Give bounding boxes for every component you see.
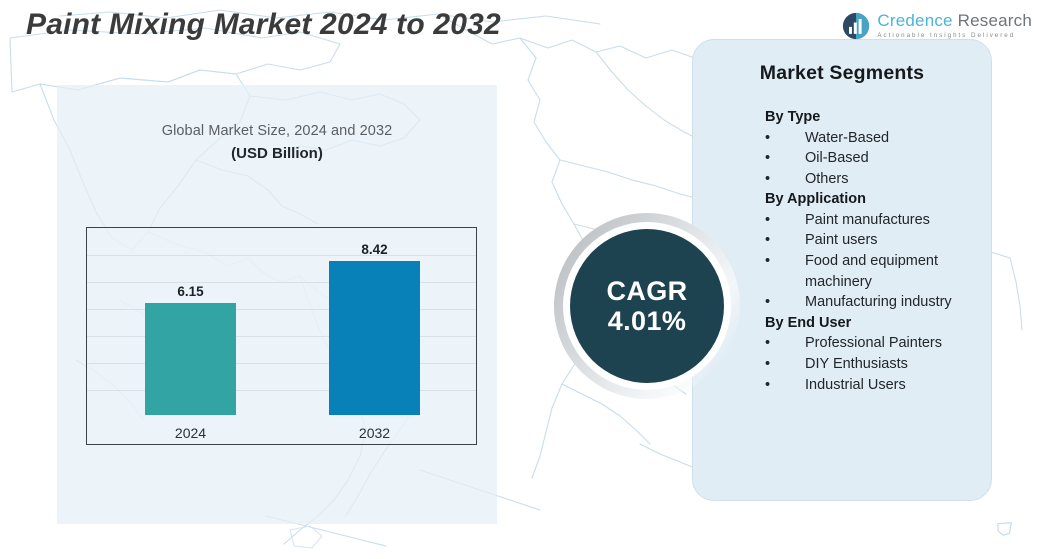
segment-item: •Water-Based (749, 128, 975, 149)
bullet-icon: • (765, 354, 805, 375)
chart-subtitle: (USD Billion) (57, 145, 497, 162)
chart-title: Global Market Size, 2024 and 2032 (57, 123, 497, 139)
segment-group: By Application•Paint manufactures•Paint … (709, 189, 975, 312)
category-label: 2032 (329, 425, 420, 441)
chart-panel: Global Market Size, 2024 and 2032 (USD B… (57, 85, 497, 524)
bar-2024 (145, 303, 236, 415)
segment-item: •Paint users (749, 230, 975, 251)
bullet-icon: • (765, 292, 805, 313)
segment-group: By End User•Professional Painters•DIY En… (709, 313, 975, 395)
bullet-icon: • (765, 148, 805, 169)
logo-tagline: Actionable Insights Delivered (877, 33, 1032, 39)
bar-chart-plot: 6.1520248.422032 (86, 227, 477, 445)
segments-title: Market Segments (709, 62, 975, 85)
cagr-label: CAGR (606, 276, 687, 306)
bar-2032 (329, 261, 420, 415)
bar-chart-circle-icon (842, 12, 870, 40)
segment-heading: By End User (765, 313, 975, 334)
segment-item: •Paint manufactures (749, 210, 975, 231)
segment-group: By Type•Water-Based•Oil-Based•Others (709, 107, 975, 189)
bullet-icon: • (765, 251, 805, 272)
segment-item: •DIY Enthusiasts (749, 354, 975, 375)
segment-item: •Professional Painters (749, 333, 975, 354)
bullet-icon: • (765, 128, 805, 149)
segment-item: •Industrial Users (749, 375, 975, 396)
bar-value-label: 8.42 (329, 242, 420, 257)
segment-item: •Oil-Based (749, 148, 975, 169)
cagr-badge: CAGR 4.01% (554, 213, 740, 399)
segment-heading: By Type (765, 107, 975, 128)
brand-logo: Credence Research Actionable Insights De… (842, 12, 1032, 40)
bullet-icon: • (765, 210, 805, 231)
decorative-corner-icon (996, 521, 1014, 537)
bullet-icon: • (765, 375, 805, 396)
segment-item: •Manufacturing industry (749, 292, 975, 313)
bullet-icon: • (765, 230, 805, 251)
logo-name: Credence Research (877, 12, 1032, 29)
segment-groups: By Type•Water-Based•Oil-Based•OthersBy A… (709, 107, 975, 395)
page-title: Paint Mixing Market 2024 to 2032 (26, 8, 501, 42)
logo-name-part1: Credence (877, 11, 952, 30)
segment-item: •Food and equipment machinery (749, 251, 975, 292)
segment-heading: By Application (765, 189, 975, 210)
bullet-icon: • (765, 333, 805, 354)
cagr-value: 4.01% (608, 306, 687, 336)
segment-item: •Others (749, 169, 975, 190)
category-label: 2024 (145, 425, 236, 441)
bar-value-label: 6.15 (145, 284, 236, 299)
bullet-icon: • (765, 169, 805, 190)
logo-name-part2: Research (958, 11, 1032, 30)
cagr-circle: CAGR 4.01% (570, 229, 724, 383)
